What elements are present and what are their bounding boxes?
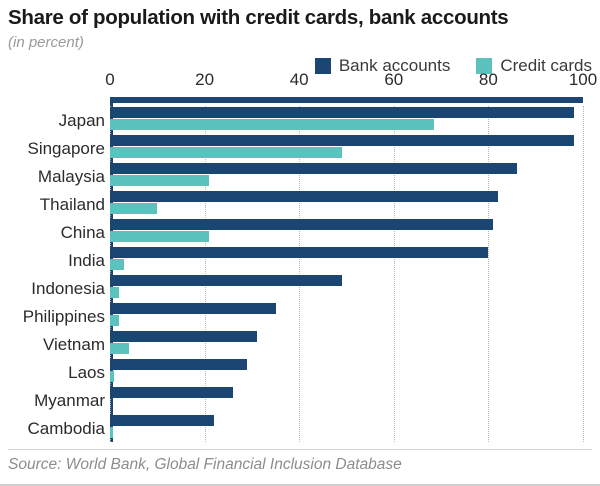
bar-row: Vietnam bbox=[110, 331, 583, 359]
x-tick-label: 60 bbox=[384, 70, 403, 90]
plot-area: 020406080100 JapanSingaporeMalaysiaThail… bbox=[110, 106, 583, 442]
bar-bank-accounts bbox=[110, 191, 498, 202]
bar-row: Cambodia bbox=[110, 415, 583, 443]
bar-bank-accounts bbox=[110, 387, 233, 398]
category-label: Laos bbox=[0, 360, 105, 386]
bar-credit-cards bbox=[110, 371, 114, 382]
source-note: Source: World Bank, Global Financial Inc… bbox=[8, 456, 402, 474]
bar-bank-accounts bbox=[110, 415, 214, 426]
bar-bank-accounts bbox=[110, 303, 276, 314]
chart-subtitle: (in percent) bbox=[8, 34, 84, 51]
bar-credit-cards bbox=[110, 231, 209, 242]
category-label: Malaysia bbox=[0, 164, 105, 190]
bar-row: Malaysia bbox=[110, 163, 583, 191]
bar-row: Indonesia bbox=[110, 275, 583, 303]
x-tick-label: 40 bbox=[290, 70, 309, 90]
category-label: China bbox=[0, 220, 105, 246]
bar-bank-accounts bbox=[110, 163, 517, 174]
bar-rows: JapanSingaporeMalaysiaThailandChinaIndia… bbox=[110, 106, 583, 442]
bar-bank-accounts bbox=[110, 247, 488, 258]
category-label: Philippines bbox=[0, 304, 105, 330]
bar-credit-cards bbox=[110, 203, 157, 214]
bar-row: Myanmar bbox=[110, 387, 583, 415]
bar-credit-cards bbox=[110, 175, 209, 186]
x-tick-label: 0 bbox=[105, 70, 114, 90]
x-tick-label: 20 bbox=[195, 70, 214, 90]
x-tick-label: 80 bbox=[479, 70, 498, 90]
category-label: Singapore bbox=[0, 136, 105, 162]
bar-row: Thailand bbox=[110, 191, 583, 219]
bar-credit-cards bbox=[110, 147, 342, 158]
bar-credit-cards bbox=[110, 343, 129, 354]
bar-bank-accounts bbox=[110, 359, 247, 370]
chart-legend: Bank accounts Credit cards bbox=[315, 56, 592, 76]
category-label: Vietnam bbox=[0, 332, 105, 358]
bar-credit-cards bbox=[110, 259, 124, 270]
chart-page: Share of population with credit cards, b… bbox=[0, 0, 600, 486]
footer-divider bbox=[8, 449, 592, 450]
bar-credit-cards bbox=[110, 427, 113, 438]
bar-bank-accounts bbox=[110, 135, 574, 146]
bar-row: Japan bbox=[110, 107, 583, 135]
x-axis-line bbox=[110, 97, 583, 103]
category-label: Thailand bbox=[0, 192, 105, 218]
x-tick-label: 100 bbox=[569, 70, 597, 90]
page-title: Share of population with credit cards, b… bbox=[8, 6, 508, 30]
category-label: Cambodia bbox=[0, 416, 105, 442]
bar-row: India bbox=[110, 247, 583, 275]
bar-row: Singapore bbox=[110, 135, 583, 163]
bar-bank-accounts bbox=[110, 275, 342, 286]
bar-row: China bbox=[110, 219, 583, 247]
bar-row: Philippines bbox=[110, 303, 583, 331]
category-label: India bbox=[0, 248, 105, 274]
bar-bank-accounts bbox=[110, 107, 574, 118]
square-swatch-icon bbox=[315, 58, 331, 74]
legend-item-bank-accounts[interactable]: Bank accounts bbox=[315, 56, 451, 76]
bar-bank-accounts bbox=[110, 219, 493, 230]
gridline bbox=[583, 106, 584, 442]
bar-credit-cards bbox=[110, 287, 119, 298]
category-label: Indonesia bbox=[0, 276, 105, 302]
bar-credit-cards bbox=[110, 119, 434, 130]
bar-credit-cards bbox=[110, 315, 119, 326]
category-label: Japan bbox=[0, 108, 105, 134]
bar-row: Laos bbox=[110, 359, 583, 387]
bar-bank-accounts bbox=[110, 331, 257, 342]
category-label: Myanmar bbox=[0, 388, 105, 414]
